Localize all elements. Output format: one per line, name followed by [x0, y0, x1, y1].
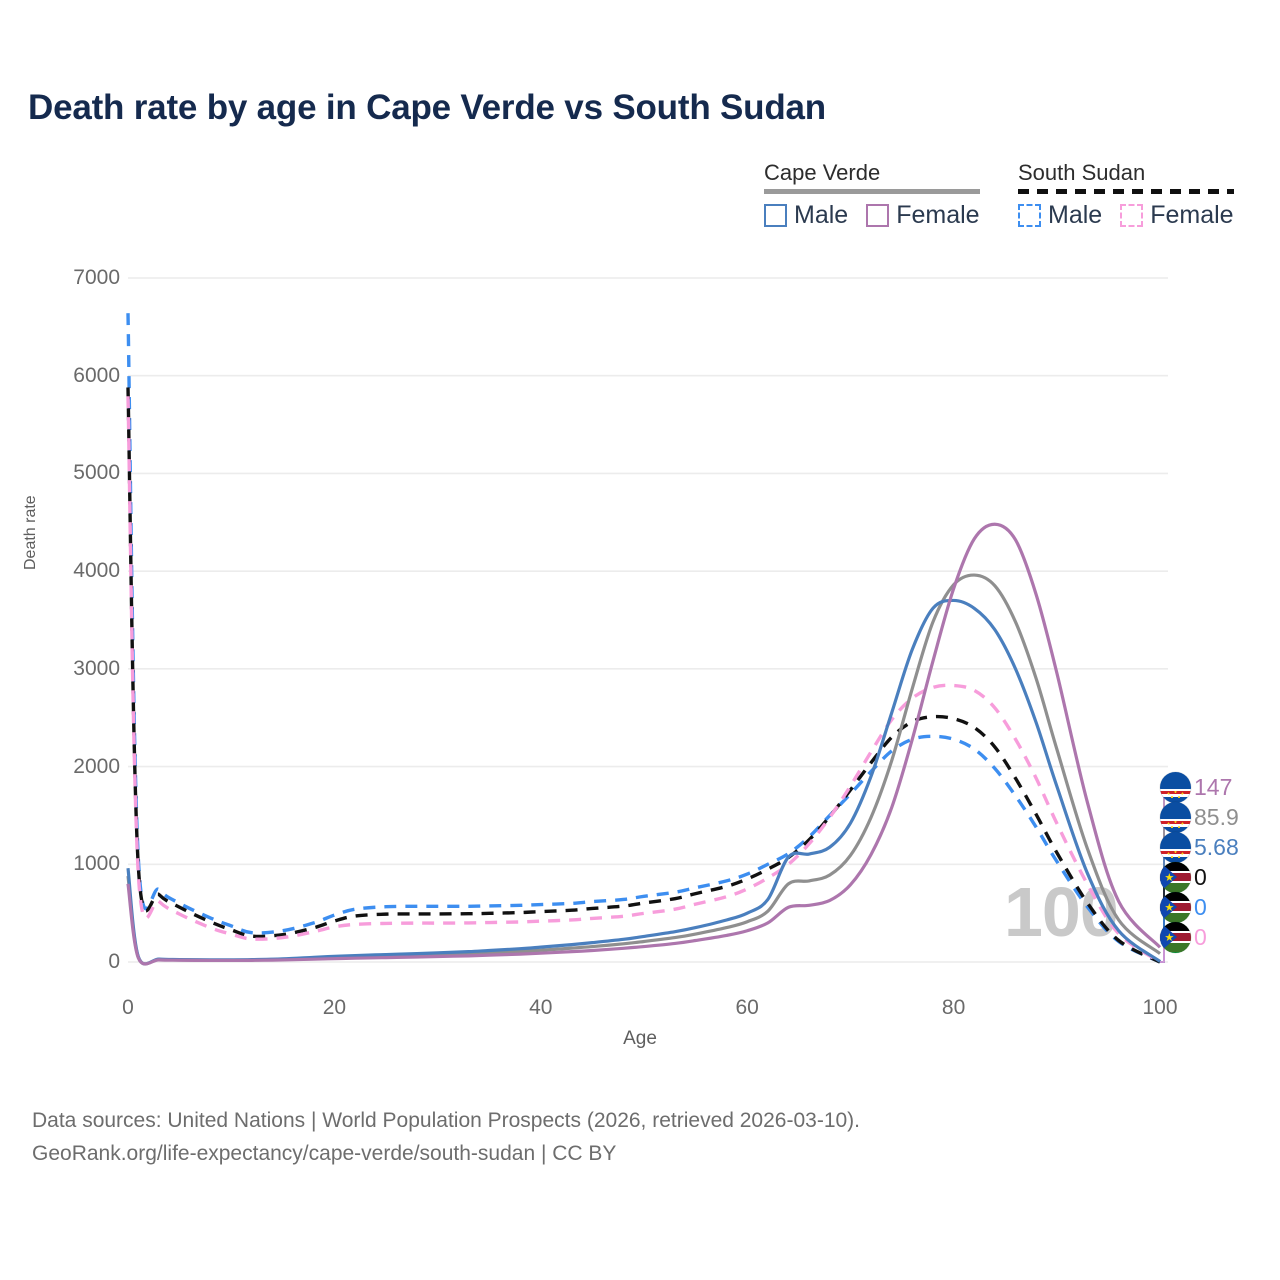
- endpoint-label-row: 5.68: [1160, 832, 1239, 862]
- chart-line-cape-verde-male: [128, 600, 1160, 963]
- chart-plot-area: Death rate Age 0100020003000400050006000…: [0, 0, 1280, 1280]
- endpoint-value: 147: [1194, 774, 1232, 801]
- endpoint-label-row: ★0: [1160, 862, 1207, 892]
- cape-verde-flag-icon: [1160, 772, 1191, 803]
- endpoint-value-labels: 14785.95.68★0★0★0: [1160, 772, 1280, 980]
- endpoint-value: 0: [1194, 924, 1207, 951]
- endpoint-value: 5.68: [1194, 834, 1239, 861]
- south-sudan-flag-icon: ★: [1160, 892, 1191, 923]
- endpoint-label-row: 147: [1160, 772, 1232, 802]
- endpoint-value: 0: [1194, 894, 1207, 921]
- endpoint-value: 0: [1194, 864, 1207, 891]
- chart-line-south-sudan-female: [128, 396, 1160, 962]
- endpoint-label-row: ★0: [1160, 892, 1207, 922]
- chart-svg-canvas: [0, 0, 1280, 1280]
- endpoint-value: 85.9: [1194, 804, 1239, 831]
- footer-attribution: GeoRank.org/life-expectancy/cape-verde/s…: [32, 1138, 860, 1171]
- footer-data-sources: Data sources: United Nations | World Pop…: [32, 1105, 860, 1138]
- chart-footer: Data sources: United Nations | World Pop…: [32, 1105, 860, 1170]
- cape-verde-flag-icon: [1160, 832, 1191, 863]
- chart-line-cape-verde-total: [128, 575, 1160, 964]
- south-sudan-flag-icon: ★: [1160, 922, 1191, 953]
- south-sudan-flag-icon: ★: [1160, 862, 1191, 893]
- endpoint-label-row: 85.9: [1160, 802, 1239, 832]
- cape-verde-flag-icon: [1160, 802, 1191, 833]
- endpoint-label-row: ★0: [1160, 922, 1207, 952]
